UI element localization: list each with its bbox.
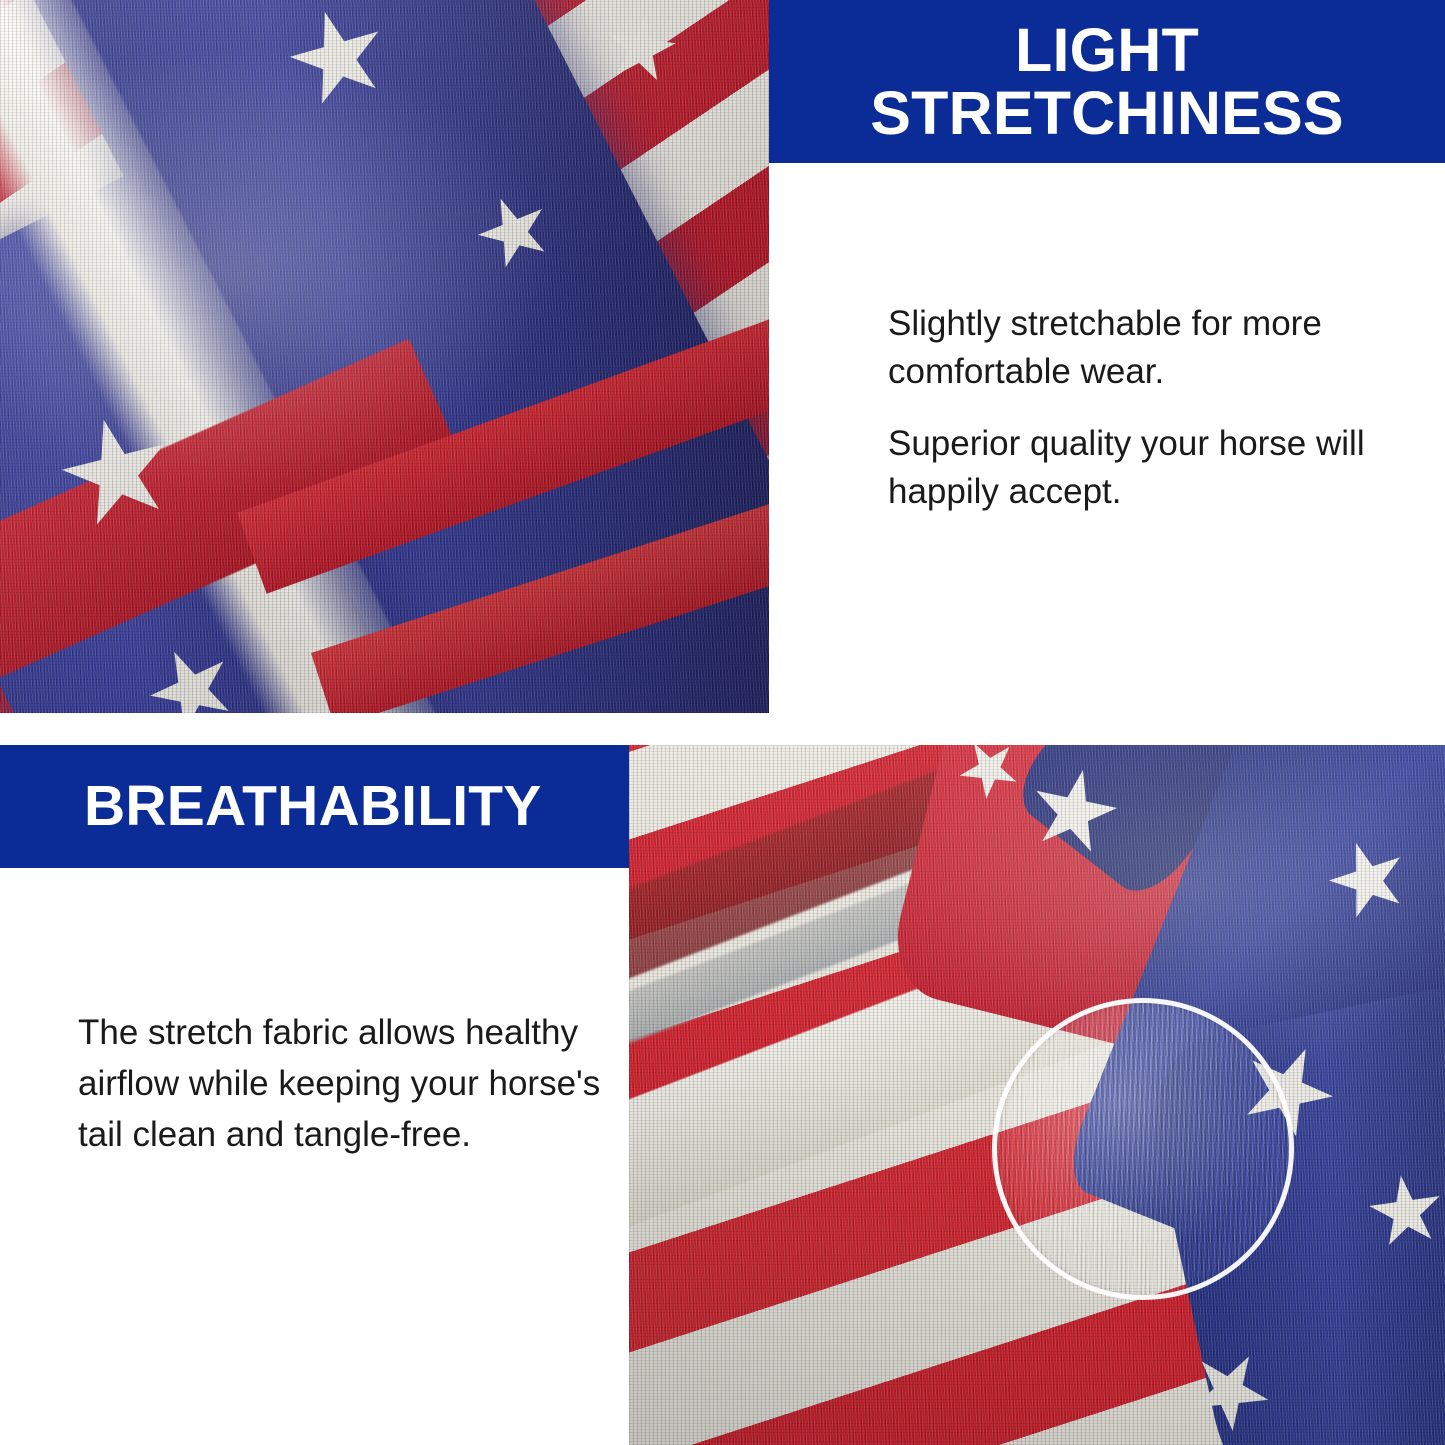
description-stretchiness: Slightly stretchable for more comfortabl… [888, 300, 1398, 516]
description-paragraph: The stretch fabric allows healthy airflo… [78, 1008, 603, 1160]
banner-light-stretchiness: LIGHT STRETCHINESS [769, 0, 1445, 163]
banner-breathability: BREATHABILITY [0, 745, 629, 868]
banner-top-title: LIGHT STRETCHINESS [870, 19, 1344, 143]
banner-top-line-1: LIGHT [870, 19, 1344, 81]
infographic-page: LIGHT STRETCHINESS Slightly stretchable … [0, 0, 1445, 1445]
description-paragraph: Superior quality your horse will happily… [888, 420, 1398, 516]
product-photo-stretchiness [0, 0, 769, 713]
banner-top-line-2: STRETCHINESS [870, 82, 1344, 144]
description-paragraph: Slightly stretchable for more comfortabl… [888, 300, 1398, 396]
description-breathability: The stretch fabric allows healthy airflo… [78, 1008, 603, 1160]
banner-bottom-title: BREATHABILITY [0, 777, 542, 835]
product-photo-breathability [629, 745, 1445, 1445]
